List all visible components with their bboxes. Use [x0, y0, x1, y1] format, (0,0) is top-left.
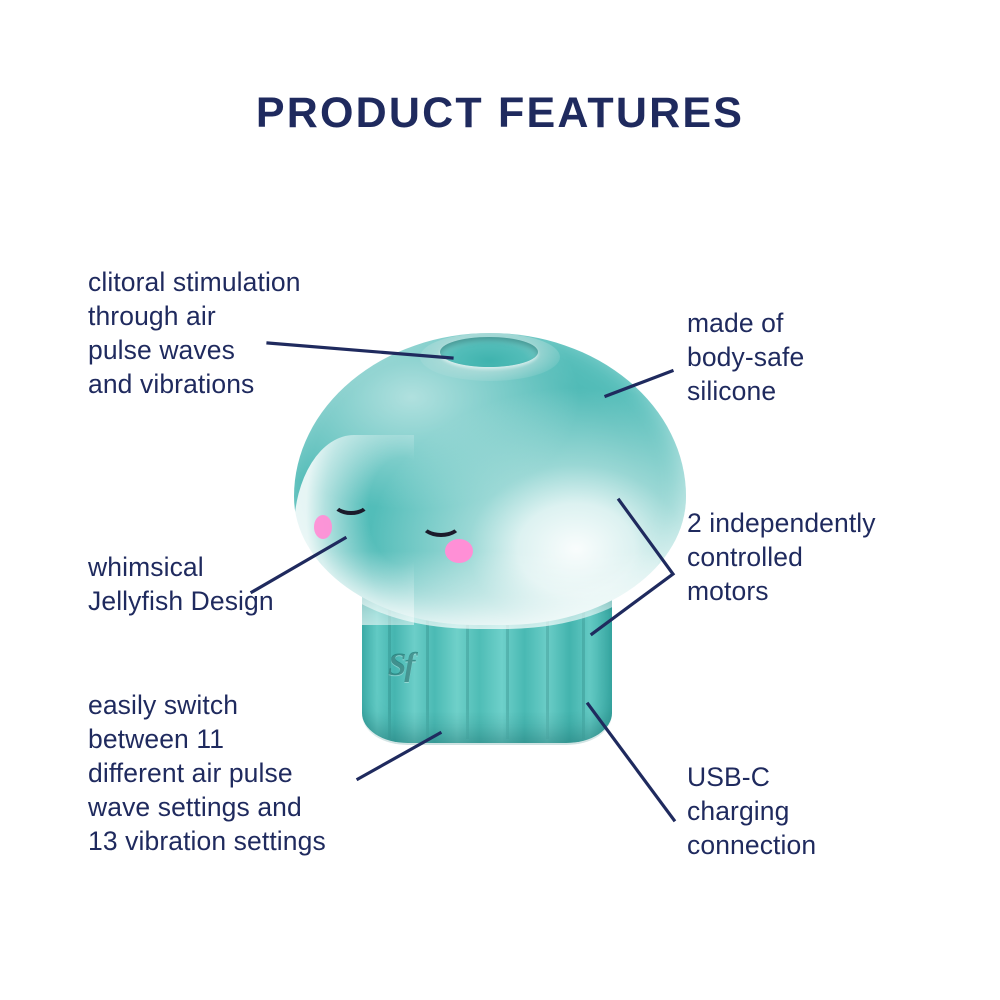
callout-usb-c-charging: USB-C charging connection: [687, 760, 957, 862]
face-eye-left-icon: [332, 490, 370, 515]
air-pulse-nozzle-opening: [440, 337, 538, 367]
callout-settings: easily switch between 11 different air p…: [88, 688, 418, 858]
face-cheek-left: [314, 515, 332, 539]
callout-whimsical-design: whimsical Jellyfish Design: [88, 550, 388, 618]
face-eye-right-icon: [420, 510, 462, 537]
page-title: PRODUCT FEATURES: [0, 92, 1000, 135]
callout-body-safe-silicone: made of body-safe silicone: [687, 306, 957, 408]
callout-clitoral-stimulation: clitoral stimulation through air pulse w…: [88, 265, 388, 401]
brand-logo-sf: Sf: [388, 645, 442, 685]
face-cheek-right: [445, 539, 473, 563]
callout-two-motors: 2 independently controlled motors: [687, 506, 967, 608]
product-features-infographic: PRODUCT FEATURES Sf clitora: [0, 0, 1000, 1000]
